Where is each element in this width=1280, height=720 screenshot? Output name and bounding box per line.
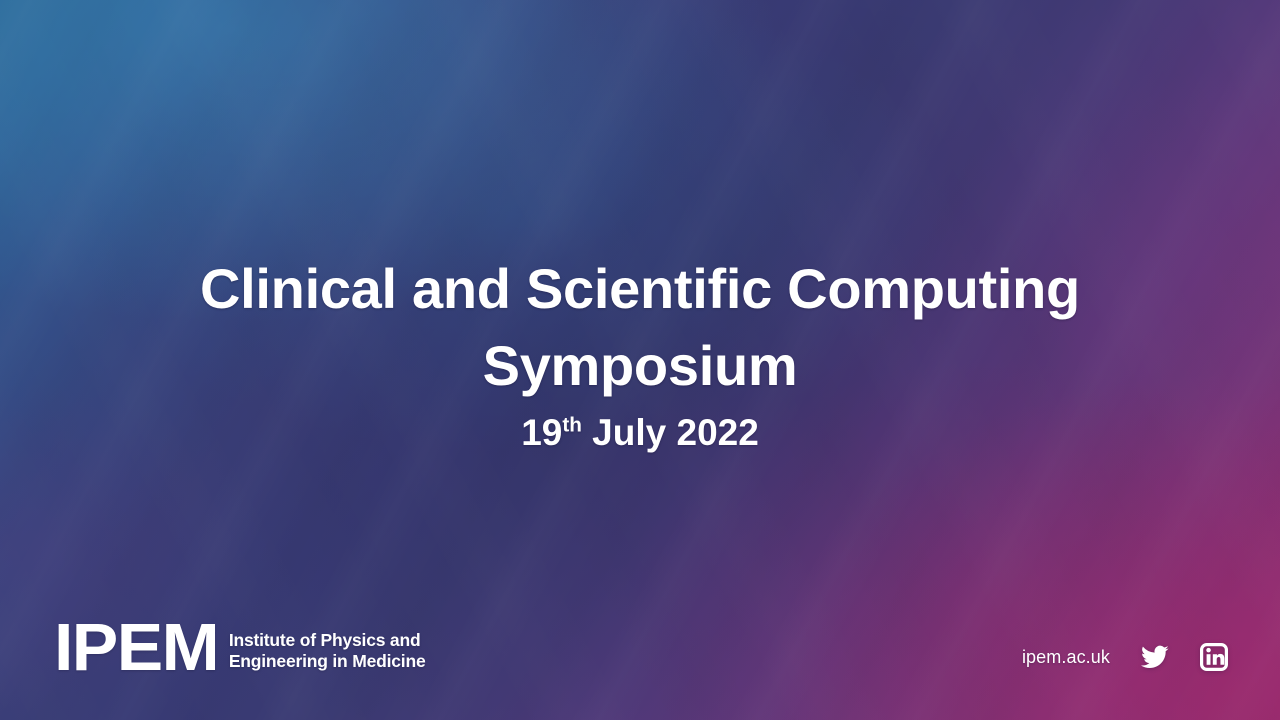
slide-date-day: 19 [521, 412, 562, 453]
title-block: Clinical and Scientific Computing Sympos… [0, 250, 1280, 453]
ipem-logo-wordmark: IPEM [54, 621, 218, 676]
ipem-logo: IPEM Institute of Physics and Engineerin… [54, 621, 426, 676]
linkedin-icon[interactable] [1200, 643, 1228, 671]
slide-date-rest: July 2022 [582, 412, 759, 453]
ipem-tagline-line-2: Engineering in Medicine [229, 651, 426, 672]
slide-title: Clinical and Scientific Computing Sympos… [0, 250, 1280, 405]
ipem-logo-tagline: Institute of Physics and Engineering in … [229, 630, 426, 673]
ipem-tagline-line-1: Institute of Physics and [229, 630, 426, 651]
presentation-slide: Clinical and Scientific Computing Sympos… [0, 0, 1280, 720]
slide-date-ordinal: th [562, 413, 582, 436]
slide-date: 19th July 2022 [0, 413, 1280, 454]
slide-footer: ipem.ac.uk [1022, 643, 1228, 671]
twitter-bird-icon[interactable] [1138, 643, 1172, 671]
website-url[interactable]: ipem.ac.uk [1022, 647, 1110, 668]
